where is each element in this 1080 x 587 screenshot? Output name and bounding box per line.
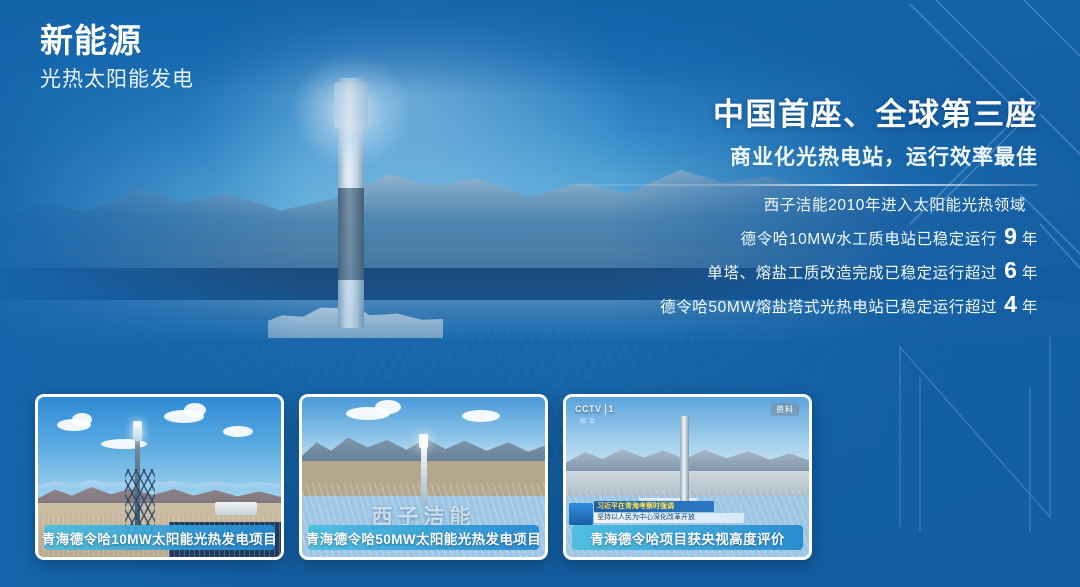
- card-3-caption: 青海德令哈项目获央视高度评价: [572, 525, 803, 550]
- brand-title-block: 新能源 光热太阳能发电: [40, 22, 194, 92]
- news-lower-third: 习近平在青海考察时强调 坚持以人民为中心深化改革开放: [566, 501, 809, 527]
- panel-subheadline: 商业化光热电站，运行效率最佳: [568, 144, 1038, 171]
- bullet-number: 9: [1004, 225, 1017, 248]
- news-headline-text: 习近平在青海考察时强调: [594, 501, 714, 512]
- bullet-text: 德令哈10MW水工质电站已稳定运行: [741, 232, 997, 248]
- thumbnail-gallery: 青海德令哈10MW太阳能光热发电项目 西子洁能 青海德令哈50MW太阳能光热发电…: [35, 394, 812, 560]
- bullet-text: 西子洁能2010年进入太阳能光热领域: [764, 198, 1026, 214]
- page-subtitle: 光热太阳能发电: [40, 67, 194, 92]
- panel-headline: 中国首座、全球第三座: [568, 96, 1038, 135]
- news-headline-strip: 习近平在青海考察时强调: [594, 501, 714, 512]
- cctv-channel-sub: 综合: [580, 416, 598, 425]
- bullet-number: 4: [1004, 293, 1017, 316]
- thumbnail-card-2[interactable]: 西子洁能 青海德令哈50MW太阳能光热发电项目: [299, 394, 548, 560]
- page-title: 新能源: [40, 22, 194, 61]
- cctv-channel-number: 1: [605, 404, 615, 414]
- cctv-channel-label: CCTV: [575, 404, 602, 414]
- thumbnail-card-1[interactable]: 青海德令哈10MW太阳能光热发电项目: [35, 394, 284, 560]
- slide-canvas: 新能源 光热太阳能发电 中国首座、全球第三座 商业化光热电站，运行效率最佳 西子…: [0, 0, 1080, 587]
- info-panel: 中国首座、全球第三座 商业化光热电站，运行效率最佳 西子洁能2010年进入太阳能…: [568, 96, 1038, 316]
- bullet-item: 单塔、熔盐工质改造完成已稳定运行超过 6 年: [707, 259, 1038, 282]
- thumbnail-card-3[interactable]: CCTV1 综合 资料 习近平在青海考察时强调 坚持以人民为中心深化改革开放 青…: [563, 394, 812, 560]
- news-subtitle-text: 坚持以人民为中心深化改革开放: [594, 513, 744, 523]
- news-subtitle-strip: 坚持以人民为中心深化改革开放: [594, 513, 744, 523]
- bullet-unit: 年: [1022, 232, 1038, 248]
- archive-badge: 资料: [771, 403, 799, 416]
- panel-bullet-list: 西子洁能2010年进入太阳能光热领域 德令哈10MW水工质电站已稳定运行 9 年…: [568, 198, 1038, 316]
- panel-divider: [568, 184, 1038, 186]
- cctv-watermark: CCTV1: [575, 404, 614, 414]
- bullet-unit: 年: [1022, 300, 1038, 316]
- bullet-item: 德令哈10MW水工质电站已稳定运行 9 年: [741, 225, 1038, 248]
- card-1-caption: 青海德令哈10MW太阳能光热发电项目: [44, 525, 275, 550]
- bullet-text: 单塔、熔盐工质改造完成已稳定运行超过: [707, 266, 997, 282]
- bullet-unit: 年: [1022, 266, 1038, 282]
- bullet-item: 德令哈50MW熔盐塔式光热电站已稳定运行超过 4 年: [660, 293, 1038, 316]
- bullet-number: 6: [1004, 259, 1017, 282]
- news-program-logo: [569, 503, 593, 525]
- bullet-text: 德令哈50MW熔盐塔式光热电站已稳定运行超过: [660, 300, 997, 316]
- card-2-caption: 青海德令哈50MW太阳能光热发电项目: [308, 525, 539, 550]
- bullet-item: 西子洁能2010年进入太阳能光热领域: [764, 198, 1038, 214]
